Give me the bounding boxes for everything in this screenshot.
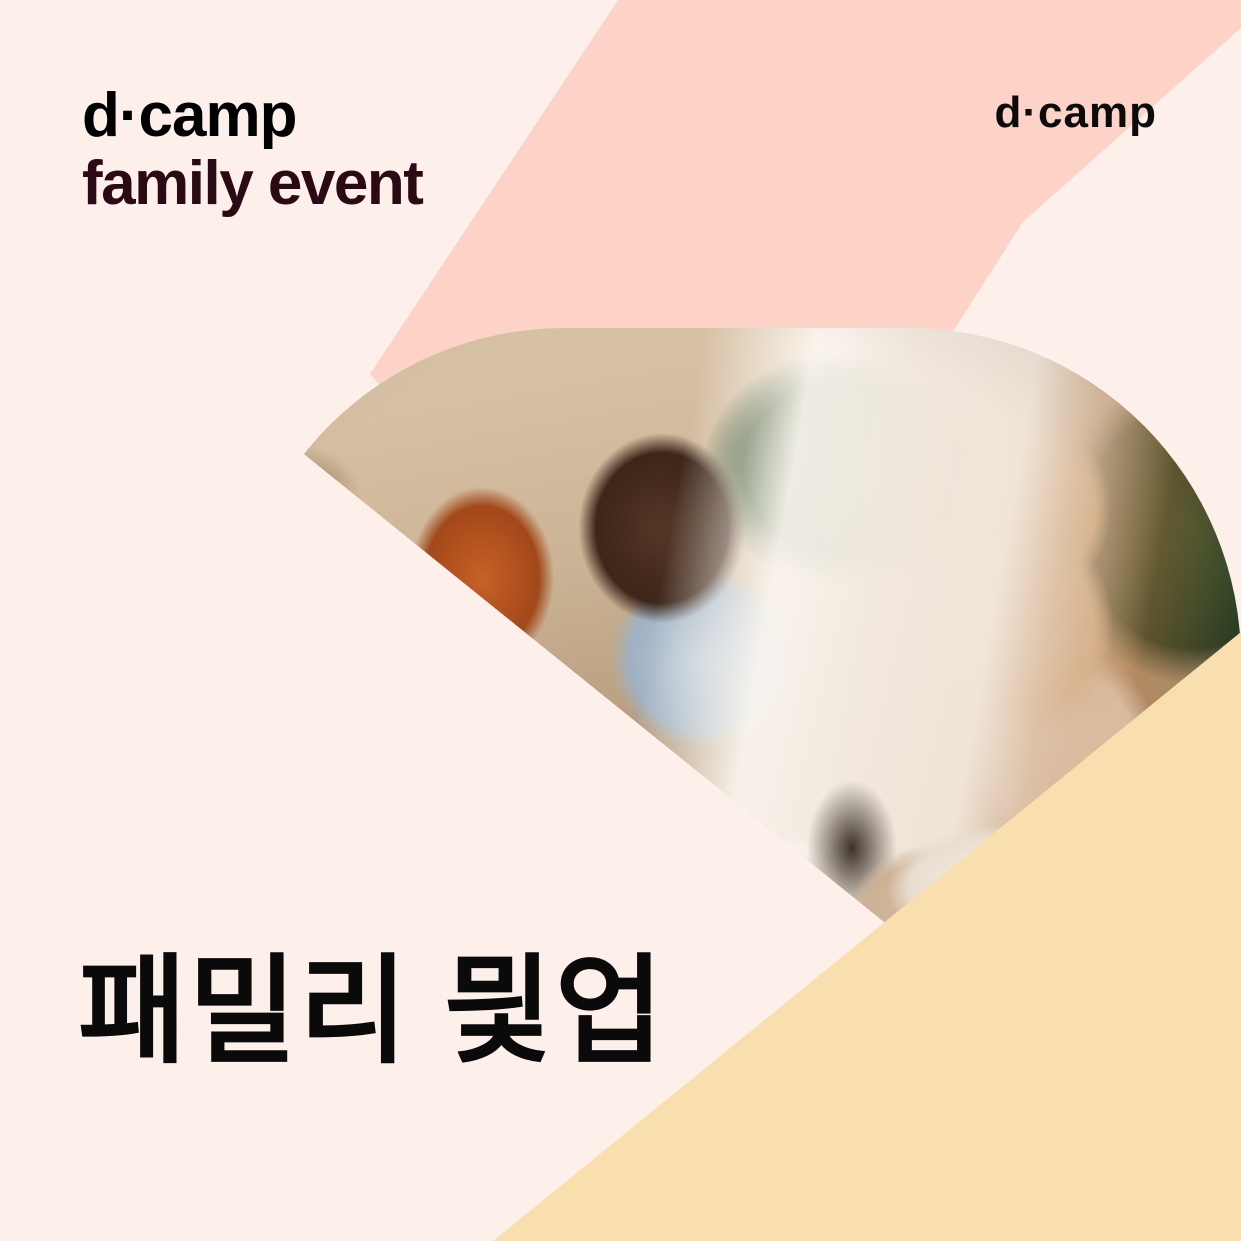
headline-lockup: d·camp family event <box>82 84 422 220</box>
headline-brand-line: d·camp <box>82 84 422 147</box>
headline-event-line: family event <box>82 147 422 220</box>
dcamp-logo: d·camp <box>995 88 1157 138</box>
photo-clip <box>232 328 1241 993</box>
hero-photo <box>232 328 1241 993</box>
poster-canvas: d·camp family event d·camp 패밀리 믳업 <box>0 0 1241 1241</box>
page-title: 패밀리 믳업 <box>78 948 666 1078</box>
photo-vignette <box>232 328 1241 993</box>
